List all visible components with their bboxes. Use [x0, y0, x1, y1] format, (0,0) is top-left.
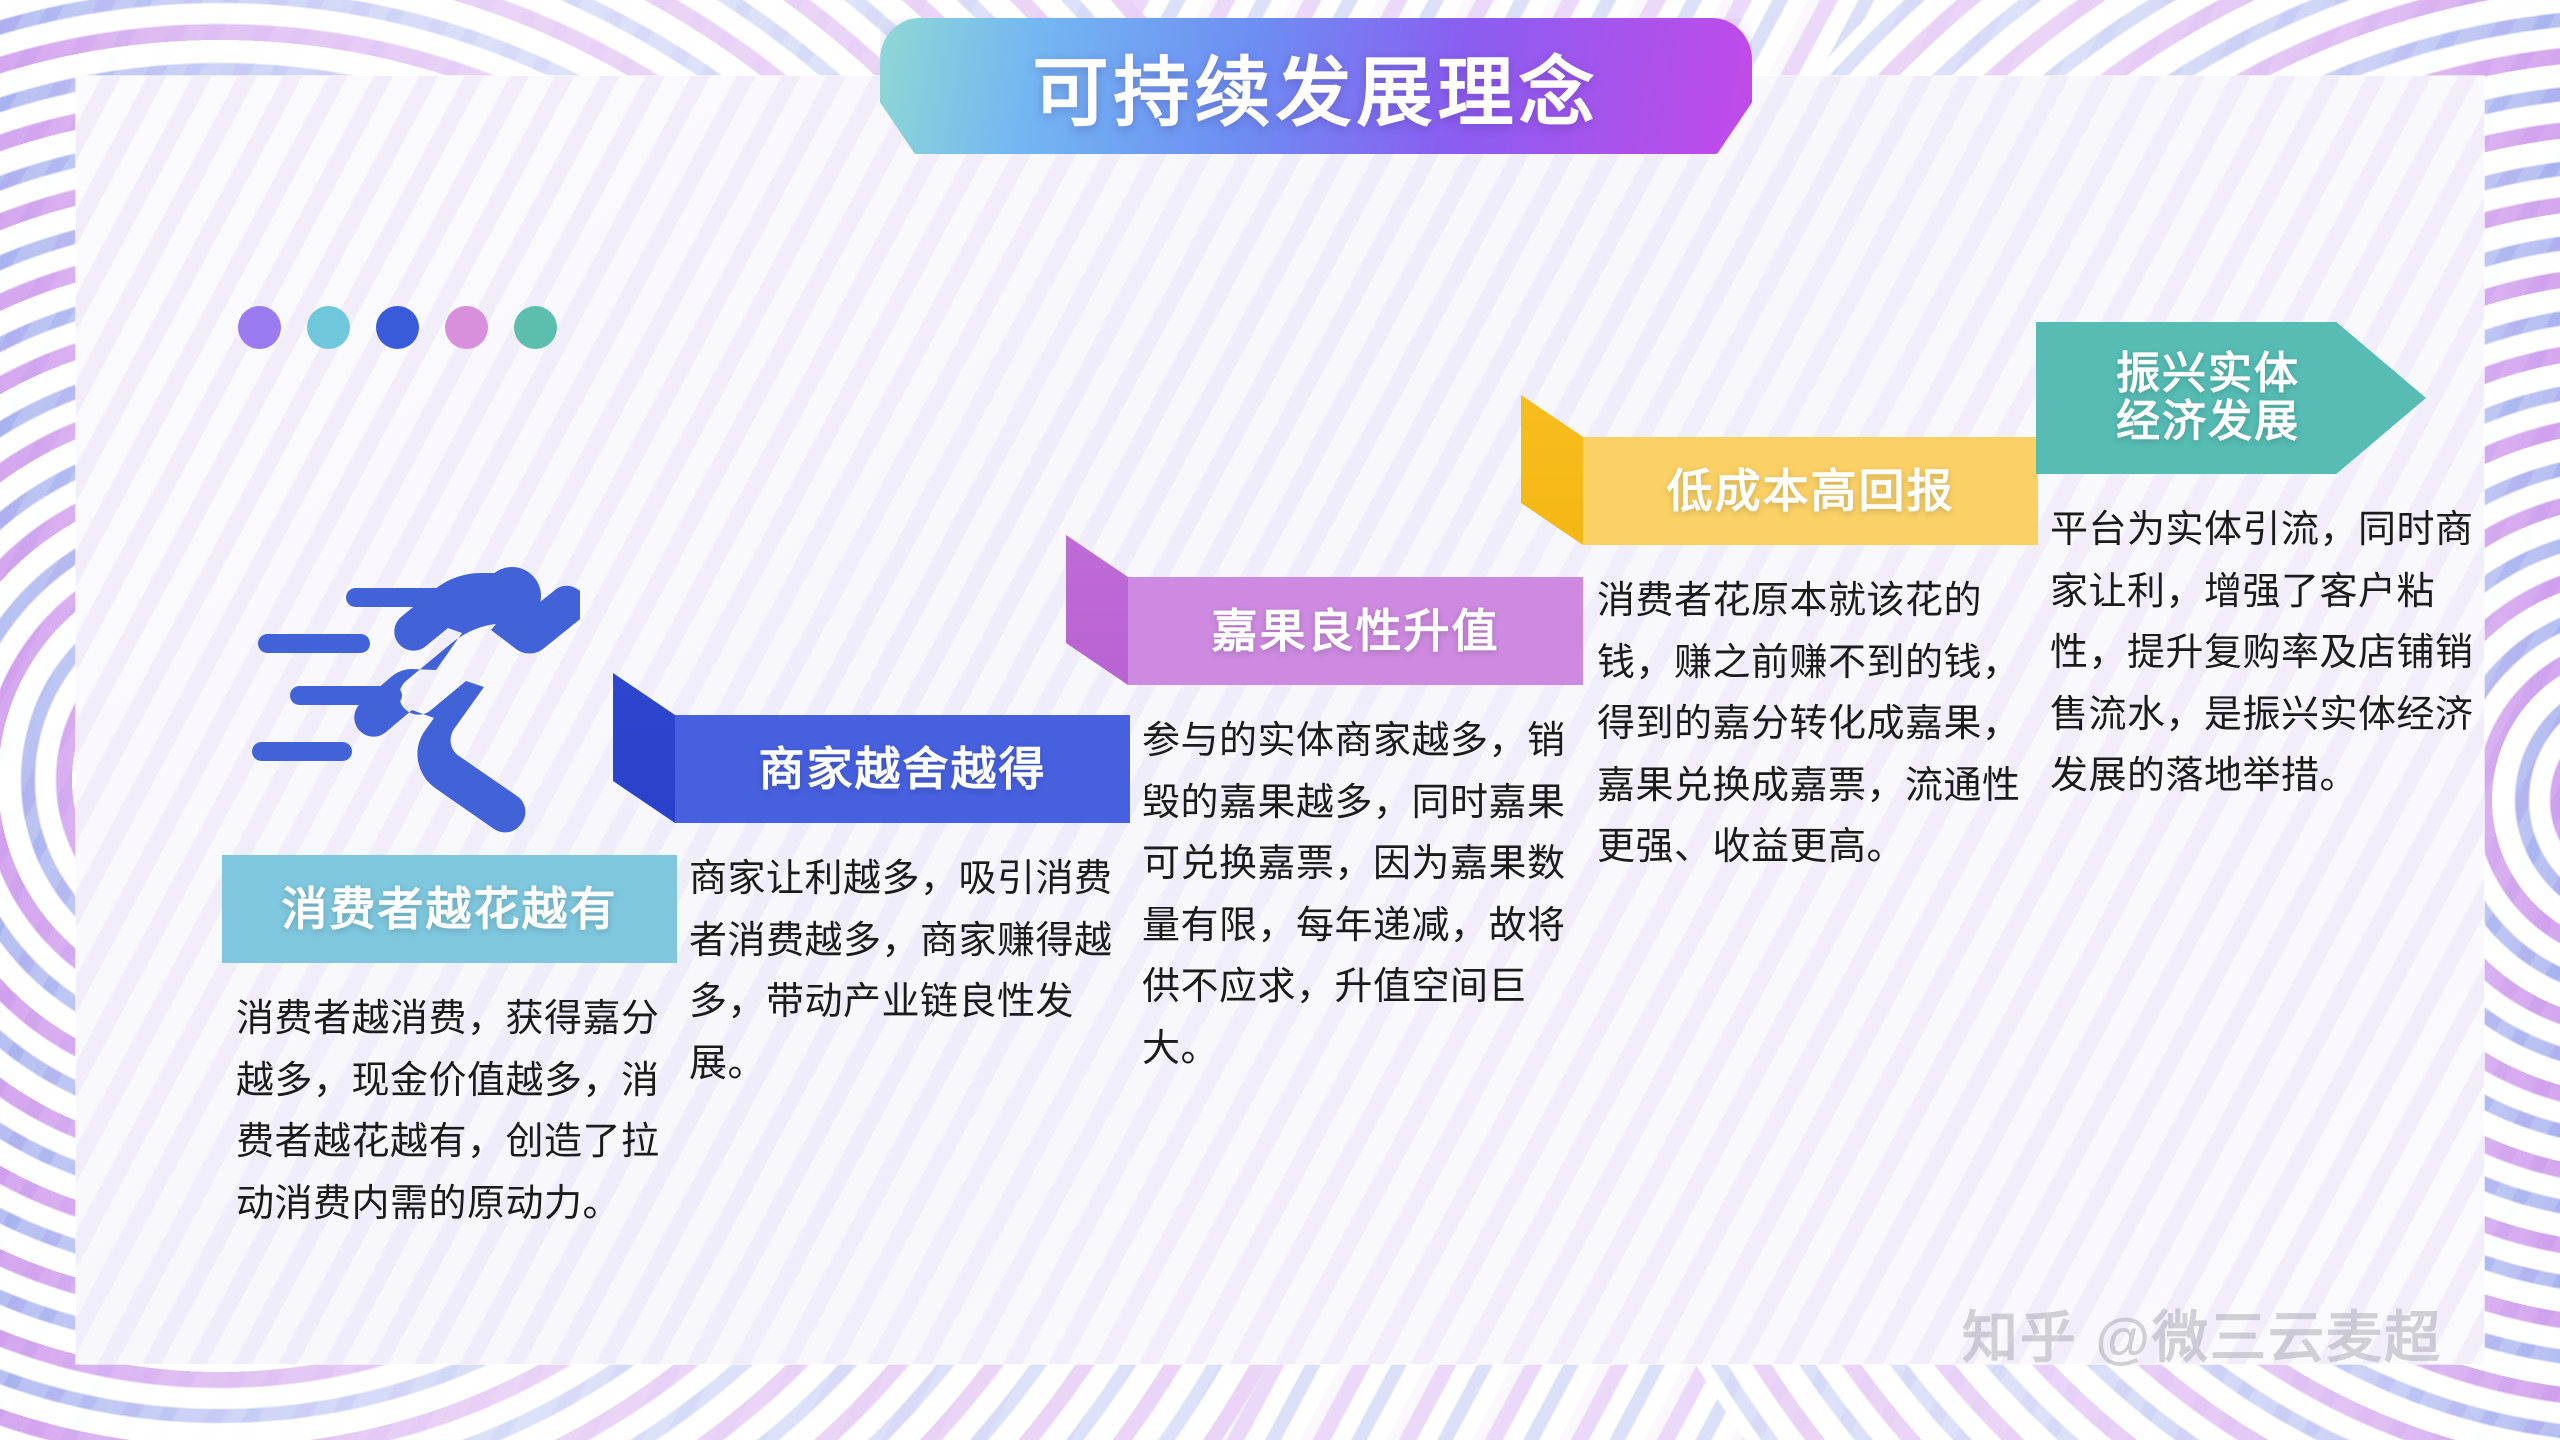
dot-cyan-icon — [307, 306, 350, 349]
step-3-header-band: 嘉果良性升值 — [1128, 577, 1583, 685]
step-3-jiaguo-healthy-appreciation[interactable]: 嘉果良性升值 参与的实体商家越多，销毁的嘉果越多，同时嘉果可兑换嘉票，因为嘉果数… — [1128, 577, 1583, 1080]
infographic-slide: 可持续发展理念 消费者越花越有 消费者越消费，获得嘉分越多，现金价值越多，消费者… — [0, 0, 2560, 1440]
dot-blue-icon — [376, 306, 419, 349]
step-5-title: 振兴实体 经济发展 — [2036, 350, 2380, 447]
step-2-merchant-give-more-gain-more[interactable]: 商家越舍越得 商家让利越多，吸引消费者消费越多，商家赚得越多，带动产业链良性发展… — [675, 715, 1130, 1095]
decorative-dots-row — [238, 306, 557, 349]
step-5-body-text: 平台为实体引流，同时商家让利，增强了客户粘性，提升复购率及店铺销售流水，是振兴实… — [2036, 474, 2491, 808]
step-1-title: 消费者越花越有 — [222, 884, 677, 935]
step-1-body-text: 消费者越消费，获得嘉分越多，现金价值越多，消费者越花越有，创造了拉动消费内需的原… — [222, 963, 677, 1235]
step-3-title: 嘉果良性升值 — [1128, 606, 1583, 657]
running-person-icon — [250, 548, 580, 838]
step-2-body-text: 商家让利越多，吸引消费者消费越多，商家赚得越多，带动产业链良性发展。 — [675, 823, 1130, 1095]
dot-purple-icon — [238, 306, 281, 349]
dot-orchid-icon — [445, 306, 488, 349]
title-banner: 可持续发展理念 — [880, 18, 1752, 154]
step-1-header-band: 消费者越花越有 — [222, 855, 677, 963]
step-1-consumer-spend-more-have-more[interactable]: 消费者越花越有 消费者越消费，获得嘉分越多，现金价值越多，消费者越花越有，创造了… — [222, 855, 677, 1235]
step-4-body-text: 消费者花原本就该花的钱，赚之前赚不到的钱，得到的嘉分转化成嘉果，嘉果兑换成嘉票，… — [1583, 545, 2038, 879]
step-5-revitalize-real-economy[interactable]: 振兴实体 经济发展 平台为实体引流，同时商家让利，增强了客户粘性，提升复购率及店… — [2036, 322, 2491, 808]
step-5-header-arrow: 振兴实体 经济发展 — [2036, 322, 2426, 474]
watermark: 知乎 @微三云麦超 — [1962, 1293, 2442, 1374]
step-4-low-cost-high-return[interactable]: 低成本高回报 消费者花原本就该花的钱，赚之前赚不到的钱，得到的嘉分转化成嘉果，嘉… — [1583, 437, 2038, 879]
step-2-header-band: 商家越舍越得 — [675, 715, 1130, 823]
step-2-title: 商家越舍越得 — [675, 744, 1130, 795]
step-3-body-text: 参与的实体商家越多，销毁的嘉果越多，同时嘉果可兑换嘉票，因为嘉果数量有限，每年递… — [1128, 685, 1583, 1080]
step-4-header-band: 低成本高回报 — [1583, 437, 2038, 545]
step-4-title: 低成本高回报 — [1583, 466, 2038, 517]
dot-teal-icon — [514, 306, 557, 349]
page-title: 可持续发展理念 — [1033, 31, 1600, 141]
